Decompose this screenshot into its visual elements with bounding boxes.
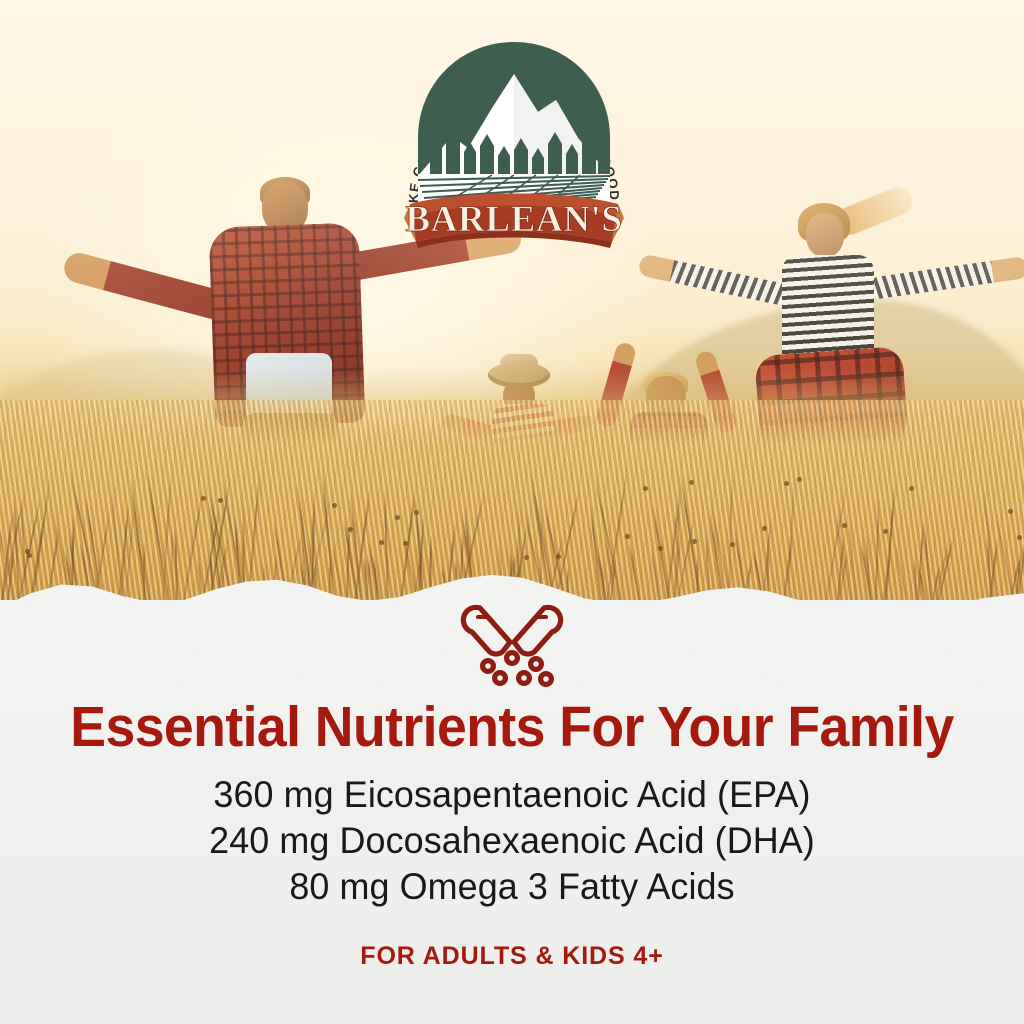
nutrient-item: 240 mg Docosahexaenoic Acid (DHA) bbox=[15, 818, 1008, 864]
logo-wordmark: BARLEAN'S bbox=[405, 199, 622, 240]
product-infographic-poster: WE MAKE GOOD STUFF SO YOU CAN DO GOOD ST… bbox=[0, 0, 1024, 1024]
nutrient-list: 360 mg Eicosapentaenoic Acid (EPA) 240 m… bbox=[0, 772, 1024, 910]
barleans-logo: WE MAKE GOOD STUFF SO YOU CAN DO GOOD ST… bbox=[396, 26, 632, 256]
father-left-arm bbox=[61, 250, 231, 322]
softgel-capsules-icon bbox=[458, 596, 566, 688]
age-suitability-note: FOR ADULTS & KIDS 4+ bbox=[0, 942, 1024, 971]
nutrient-item: 360 mg Eicosapentaenoic Acid (EPA) bbox=[15, 772, 1008, 818]
mother-head bbox=[806, 213, 844, 257]
mother-right-arm bbox=[867, 256, 1024, 300]
mother-left-arm bbox=[637, 253, 790, 306]
page-headline: Essential Nutrients For Your Family bbox=[31, 694, 994, 760]
nutrient-item: 80 mg Omega 3 Fatty Acids bbox=[15, 864, 1008, 910]
logo-mountain-scene bbox=[418, 42, 610, 204]
